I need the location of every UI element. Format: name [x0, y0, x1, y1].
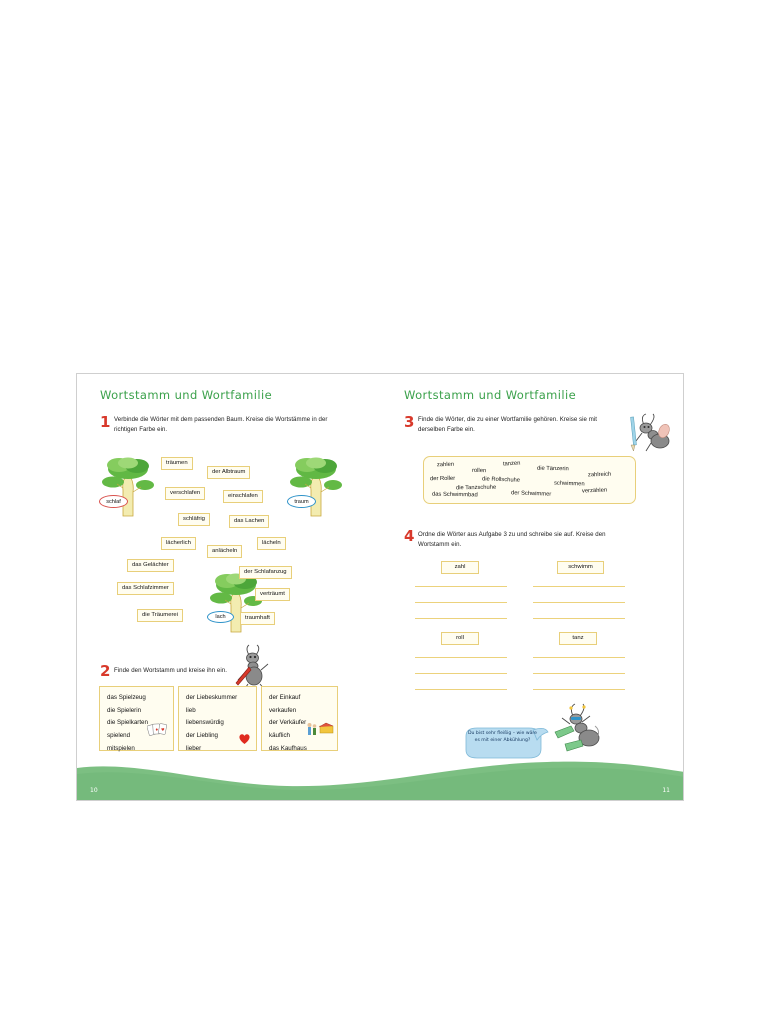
writing-line[interactable] [415, 602, 507, 603]
page-number-right: 11 [662, 787, 670, 794]
scatter-word[interactable]: verzählen [582, 488, 607, 495]
ant-reclining-icon [627, 413, 673, 455]
scatter-word[interactable]: der Roller [430, 476, 455, 482]
stem-box-tanz[interactable]: tanz [559, 632, 597, 645]
scatter-word[interactable]: die Tanzschuhe [456, 485, 496, 492]
writing-line[interactable] [533, 618, 625, 619]
stem-box-roll[interactable]: roll [441, 632, 479, 645]
stem-box-schwimm[interactable]: schwimm [557, 561, 604, 574]
writing-line[interactable] [415, 657, 507, 658]
list-item: lieb [186, 705, 249, 718]
scatter-word[interactable]: schwimmen [554, 480, 585, 487]
playing-cards-icon: ♦ ♥ [147, 722, 169, 736]
page-title-left: Wortstamm und Wortfamilie [100, 388, 272, 402]
writing-line[interactable] [533, 673, 625, 674]
word-card[interactable]: der Schlafanzug [239, 566, 292, 579]
list-item: das Spielzeug [107, 692, 166, 705]
tree-lach [205, 570, 267, 636]
list-item: verkaufen [269, 705, 330, 718]
task-instruction-1: Verbinde die Wörter mit dem passenden Ba… [114, 415, 332, 435]
scatter-word[interactable]: rollen [472, 468, 486, 474]
ant-swimming-icon [551, 702, 609, 758]
task-instruction-4: Ordne die Wörter aus Aufgabe 3 zu und sc… [418, 530, 633, 550]
footer-wave [77, 754, 684, 800]
tree-stem-label-lach: lach [207, 611, 234, 623]
word-scatter-box[interactable]: zahlen rollen tanzen die Tänzerin der Ro… [423, 456, 636, 504]
tree-stem-label-schlaf: schlaf [99, 495, 128, 508]
list-item: liebenswürdig [186, 717, 249, 730]
word-column-lieb[interactable]: der Liebeskummer lieb liebenswürdig der … [178, 686, 257, 751]
scatter-word[interactable]: die Rollschuhe [482, 476, 520, 483]
word-card[interactable]: lächeln [257, 537, 286, 550]
word-card[interactable]: das Gelächter [127, 559, 174, 572]
writing-line[interactable] [415, 618, 507, 619]
word-card[interactable]: einschlafen [223, 490, 263, 503]
list-item: der Liebeskummer [186, 692, 249, 705]
writing-line[interactable] [533, 602, 625, 603]
left-page: Wortstamm und Wortfamilie 1 Verbinde die… [77, 374, 381, 800]
word-card[interactable]: anlächeln [207, 545, 242, 558]
word-card[interactable]: das Schlafzimmer [117, 582, 174, 595]
word-card[interactable]: das Lachen [229, 515, 269, 528]
task-number-2: 2 [100, 664, 110, 679]
word-card[interactable]: träumen [161, 457, 193, 470]
tree-schlaf [97, 454, 159, 520]
scatter-word[interactable]: zahlreich [588, 472, 611, 479]
task-instruction-3: Finde die Wörter, die zu einer Wortfamil… [418, 415, 616, 435]
writing-line[interactable] [415, 586, 507, 587]
scatter-word[interactable]: der Schwimmer [511, 490, 551, 497]
speech-bubble-text: Du bist sehr fleißig – wie wäre es mit e… [465, 731, 540, 745]
tree-stem-label-traum: traum [287, 495, 316, 508]
word-column-spiel[interactable]: das Spielzeug die Spielerin die Spielkar… [99, 686, 174, 751]
task-number-4: 4 [404, 529, 414, 544]
book-spread: Wortstamm und Wortfamilie 1 Verbinde die… [76, 373, 684, 801]
svg-text:♥: ♥ [161, 727, 165, 732]
svg-text:♦: ♦ [155, 727, 159, 732]
list-item: die Spielerin [107, 705, 166, 718]
word-card[interactable]: verschlafen [165, 487, 205, 500]
word-card[interactable]: verträumt [255, 588, 290, 601]
shop-icon [306, 722, 334, 736]
heart-icon [238, 733, 251, 745]
word-card[interactable]: traumhaft [240, 612, 275, 625]
page-canvas: Wortstamm und Wortfamilie 1 Verbinde die… [0, 0, 768, 1024]
writing-line[interactable] [415, 673, 507, 674]
word-card[interactable]: die Träumerei [137, 609, 183, 622]
scatter-word[interactable]: zahlen [437, 462, 454, 469]
word-column-kauf[interactable]: der Einkauf verkaufen der Verkäufer käuf… [261, 686, 338, 751]
word-card[interactable]: lächerlich [161, 537, 196, 550]
writing-line[interactable] [533, 657, 625, 658]
task-number-3: 3 [404, 415, 414, 430]
writing-line[interactable] [415, 689, 507, 690]
writing-line[interactable] [533, 689, 625, 690]
right-page: Wortstamm und Wortfamilie 3 Finde die Wö… [381, 374, 684, 800]
scatter-word[interactable]: die Tänzerin [537, 466, 569, 473]
scatter-word[interactable]: tanzen [503, 461, 521, 468]
page-title-right: Wortstamm und Wortfamilie [404, 388, 576, 402]
word-card[interactable]: schläfrig [178, 513, 210, 526]
page-number-left: 10 [90, 787, 98, 794]
tree-traum [285, 454, 347, 520]
word-card[interactable]: der Albtraum [207, 466, 250, 479]
task-instruction-2: Finde den Wortstamm und kreise ihn ein. [114, 666, 324, 676]
task-number-1: 1 [100, 415, 110, 430]
writing-line[interactable] [533, 586, 625, 587]
scatter-word[interactable]: das Schwimmbad [432, 492, 478, 499]
stem-box-zahl[interactable]: zahl [441, 561, 479, 574]
list-item: der Einkauf [269, 692, 330, 705]
